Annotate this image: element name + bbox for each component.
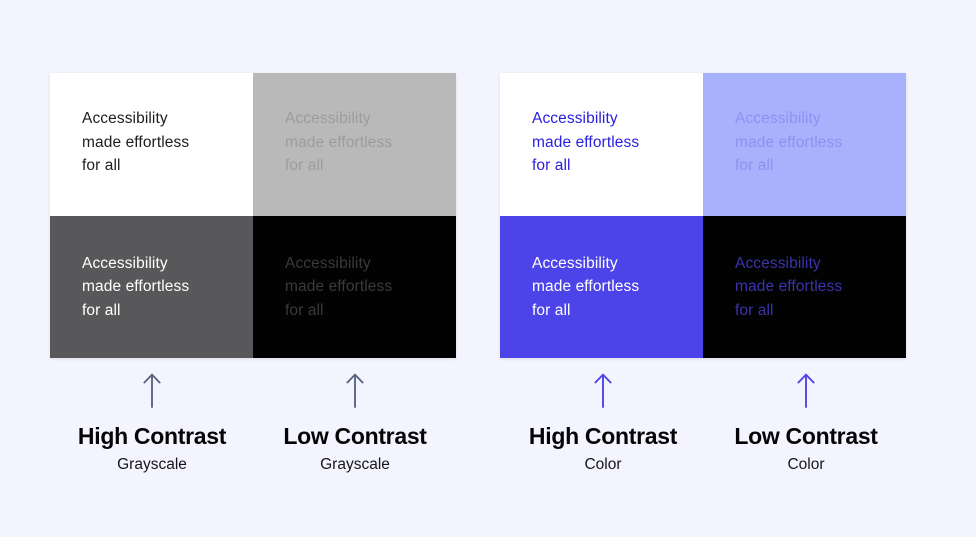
swatch-sample-text: Accessibility made effortless for all xyxy=(285,252,392,323)
caption-title: Low Contrast xyxy=(696,422,916,450)
caption-subtitle: Grayscale xyxy=(245,453,465,477)
swatch-grayscale-low-contrast-dark: Accessibility made effortless for all xyxy=(253,216,456,359)
caption-subtitle: Grayscale xyxy=(42,453,262,477)
swatch-sample-text: Accessibility made effortless for all xyxy=(735,107,842,178)
swatch-grayscale-high-contrast-dark: Accessibility made effortless for all xyxy=(50,216,253,359)
swatch-sample-text: Accessibility made effortless for all xyxy=(735,252,842,323)
arrow-up-icon xyxy=(141,372,163,408)
caption-subtitle: Color xyxy=(493,453,713,477)
caption-low-contrast-grayscale: Low Contrast Grayscale xyxy=(245,372,465,477)
panel-color: Accessibility made effortless for all Ac… xyxy=(500,73,906,358)
swatch-sample-text: Accessibility made effortless for all xyxy=(285,107,392,178)
swatch-grayscale-high-contrast-light: Accessibility made effortless for all xyxy=(50,73,253,216)
swatch-color-high-contrast-dark: Accessibility made effortless for all xyxy=(500,216,703,359)
caption-subtitle: Color xyxy=(696,453,916,477)
swatch-color-low-contrast-light: Accessibility made effortless for all xyxy=(703,73,906,216)
arrow-up-icon xyxy=(795,372,817,408)
caption-high-contrast-color: High Contrast Color xyxy=(493,372,713,477)
swatch-sample-text: Accessibility made effortless for all xyxy=(532,252,639,323)
arrow-up-icon xyxy=(592,372,614,408)
arrow-up-icon xyxy=(344,372,366,408)
contrast-comparison-figure: Accessibility made effortless for all Ac… xyxy=(0,0,976,537)
caption-low-contrast-color: Low Contrast Color xyxy=(696,372,916,477)
swatch-sample-text: Accessibility made effortless for all xyxy=(532,107,639,178)
caption-title: High Contrast xyxy=(493,422,713,450)
caption-title: High Contrast xyxy=(42,422,262,450)
swatch-sample-text: Accessibility made effortless for all xyxy=(82,252,189,323)
caption-title: Low Contrast xyxy=(245,422,465,450)
panel-grayscale: Accessibility made effortless for all Ac… xyxy=(50,73,456,358)
swatch-grayscale-low-contrast-light: Accessibility made effortless for all xyxy=(253,73,456,216)
caption-high-contrast-grayscale: High Contrast Grayscale xyxy=(42,372,262,477)
swatch-color-high-contrast-light: Accessibility made effortless for all xyxy=(500,73,703,216)
swatch-color-low-contrast-dark: Accessibility made effortless for all xyxy=(703,216,906,359)
swatch-sample-text: Accessibility made effortless for all xyxy=(82,107,189,178)
